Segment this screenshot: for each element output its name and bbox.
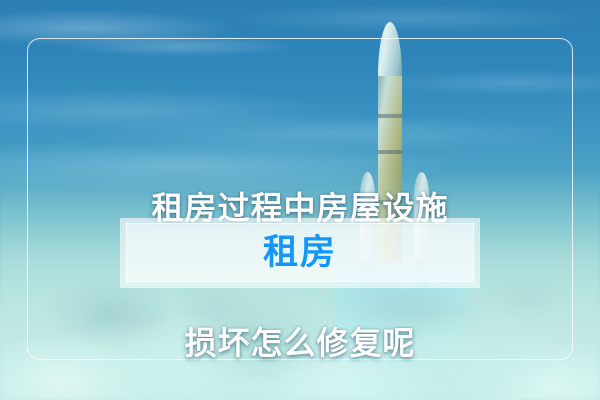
poster-canvas: 租房过程中房屋设施 损坏怎么修复呢 租房 <box>0 0 600 400</box>
rocket-nose-cone <box>378 22 402 80</box>
headline-line-2: 损坏怎么修复呢 <box>0 321 600 366</box>
tag-banner: 租房 <box>120 218 480 288</box>
tag-label: 租房 <box>263 235 337 270</box>
tag-banner-inner: 租房 <box>126 223 474 282</box>
